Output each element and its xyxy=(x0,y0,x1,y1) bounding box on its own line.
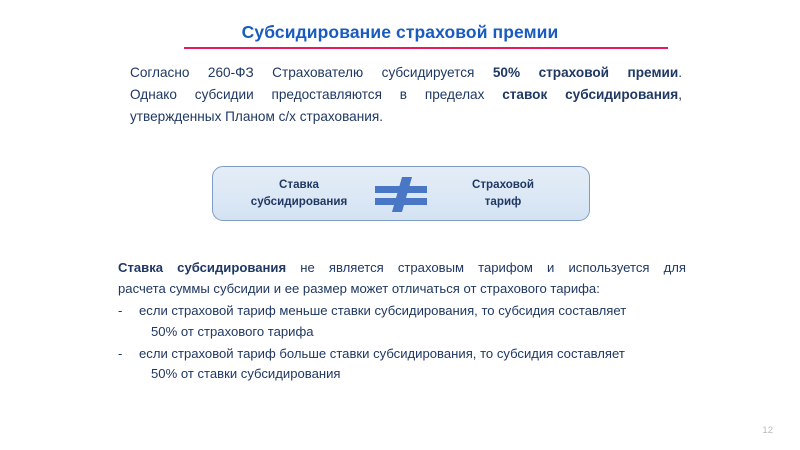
bullet-marker: - xyxy=(118,301,136,322)
body-line-1-text: не является страховым тарифом и использу… xyxy=(286,260,686,275)
diagram-left-label-line2: субсидирования xyxy=(251,195,347,208)
body-line-1-bold: Ставка субсидирования xyxy=(118,260,286,275)
diagram-left-label-line1: Ставка xyxy=(279,178,319,191)
diagram-right-label-line2: тариф xyxy=(485,195,521,208)
diagram-left-label: Ставка субсидирования xyxy=(229,177,369,211)
slide-canvas: Субсидирование страховой премии Согласно… xyxy=(0,0,800,450)
bullet-text: если страховой тариф меньше ставки субси… xyxy=(136,301,686,342)
bullet-list: - если страховой тариф меньше ставки суб… xyxy=(118,301,686,385)
intro-line-1: Согласно 260-ФЗ Страхователю субсидирует… xyxy=(130,62,682,84)
not-equal-icon-slash xyxy=(392,177,412,212)
title-underline-rule xyxy=(184,47,668,49)
bullet-2-line-2: 50% от ставки субсидирования xyxy=(139,364,686,385)
list-item: - если страховой тариф больше ставки суб… xyxy=(118,344,686,385)
not-equal-icon xyxy=(369,173,433,215)
title-block: Субсидирование страховой премии xyxy=(0,22,800,43)
intro-line-3: утвержденных Планом с/х страхования. xyxy=(130,106,682,128)
diagram-right-label-line1: Страховой xyxy=(472,178,534,191)
bullet-1-line-1: если страховой тариф меньше ставки субси… xyxy=(139,301,686,322)
comparison-diagram-box: Ставка субсидирования Страховой тариф xyxy=(212,166,590,221)
intro-line-2-tail: , xyxy=(678,87,682,102)
intro-line-1-text: Согласно 260-ФЗ Страхователю субсидирует… xyxy=(130,65,493,80)
intro-line-1-bold: 50% страховой премии xyxy=(493,65,678,80)
bullet-2-line-1: если страховой тариф больше ставки субси… xyxy=(139,344,686,365)
page-title: Субсидирование страховой премии xyxy=(0,22,800,43)
bullet-1-line-2: 50% от страхового тарифа xyxy=(139,322,686,343)
intro-line-2-text: Однако субсидии предоставляются в предел… xyxy=(130,87,502,102)
body-block: Ставка субсидирования не является страхо… xyxy=(118,258,686,385)
bullet-marker: - xyxy=(118,344,136,365)
body-line-1: Ставка субсидирования не является страхо… xyxy=(118,258,686,279)
body-line-2: расчета суммы субсидии и ее размер может… xyxy=(118,279,686,300)
intro-line-2-bold: ставок субсидирования xyxy=(502,87,678,102)
bullet-text: если страховой тариф больше ставки субси… xyxy=(136,344,686,385)
page-number: 12 xyxy=(762,425,773,436)
intro-line-1-tail: . xyxy=(678,65,682,80)
diagram-right-label: Страховой тариф xyxy=(433,177,573,211)
list-item: - если страховой тариф меньше ставки суб… xyxy=(118,301,686,342)
intro-paragraph: Согласно 260-ФЗ Страхователю субсидирует… xyxy=(130,62,682,128)
intro-line-2: Однако субсидии предоставляются в предел… xyxy=(130,84,682,106)
